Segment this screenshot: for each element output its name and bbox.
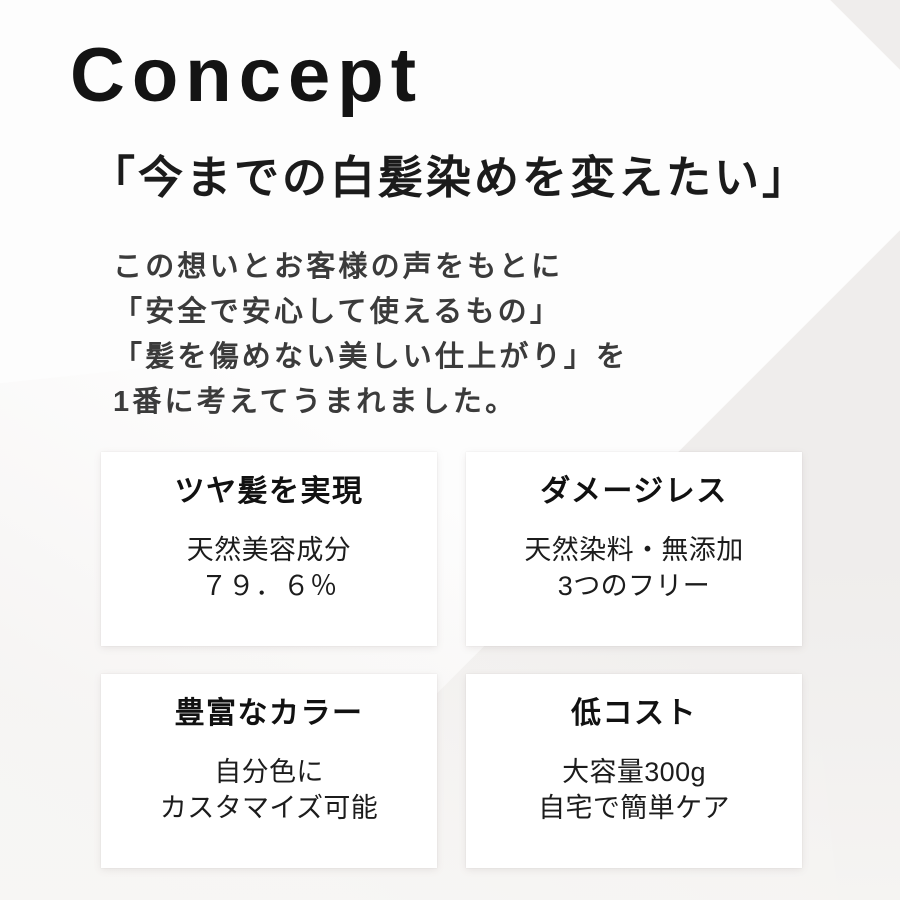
feature-card-body: 天然美容成分 ７９．６％	[187, 532, 351, 604]
concept-section: Concept 「今までの白髪染めを変えたい」 この想いとお客様の声をもとに 「…	[0, 0, 900, 900]
feature-card-body-line: 大容量300g	[538, 754, 730, 790]
feature-card: ツヤ髪を実現 天然美容成分 ７９．６％	[101, 452, 437, 646]
feature-card: 低コスト 大容量300g 自宅で簡単ケア	[466, 674, 802, 868]
lead-line: 「髪を傷めない美しい仕上がり」を	[113, 335, 628, 380]
lead-line: 1番に考えてうまれました。	[113, 380, 628, 425]
feature-card-body-line: 自宅で簡単ケア	[538, 790, 730, 826]
content-container: Concept 「今までの白髪染めを変えたい」 この想いとお客様の声をもとに 「…	[0, 0, 900, 900]
lead-paragraph: この想いとお客様の声をもとに 「安全で安心して使えるもの」 「髪を傷めない美しい…	[113, 245, 628, 425]
feature-card-title: 低コスト	[571, 696, 697, 732]
lead-line: 「安全で安心して使えるもの」	[113, 290, 628, 335]
feature-card-grid: ツヤ髪を実現 天然美容成分 ７９．６％ ダメージレス 天然染料・無添加 3つのフ…	[101, 452, 802, 868]
feature-card-body-line: 天然美容成分	[187, 532, 351, 568]
feature-card-title: ツヤ髪を実現	[175, 474, 364, 510]
page-title: Concept	[70, 38, 423, 114]
lead-line: この想いとお客様の声をもとに	[113, 245, 628, 290]
feature-card-body-line: ７９．６％	[187, 568, 351, 604]
headline: 「今までの白髪染めを変えたい」	[90, 152, 810, 204]
feature-card: 豊富なカラー 自分色に カスタマイズ可能	[101, 674, 437, 868]
feature-card-body-line: カスタマイズ可能	[160, 790, 378, 826]
feature-card-body-line: 自分色に	[160, 754, 378, 790]
feature-card-body: 大容量300g 自宅で簡単ケア	[538, 754, 730, 826]
feature-card-body: 天然染料・無添加 3つのフリー	[524, 532, 743, 604]
feature-card: ダメージレス 天然染料・無添加 3つのフリー	[466, 452, 802, 646]
feature-card-body-line: 天然染料・無添加	[524, 532, 743, 568]
feature-card-title: ダメージレス	[540, 474, 728, 510]
feature-card-body: 自分色に カスタマイズ可能	[160, 754, 378, 826]
feature-card-body-line: 3つのフリー	[524, 568, 743, 604]
feature-card-title: 豊富なカラー	[175, 696, 364, 732]
